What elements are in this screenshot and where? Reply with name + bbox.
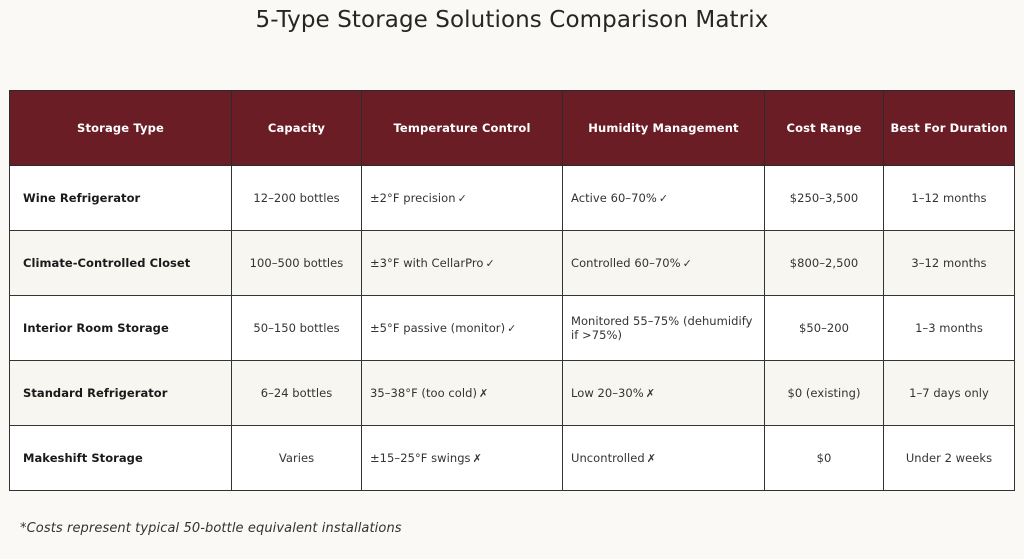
column-header-humidity-management: Humidity Management: [563, 91, 765, 166]
temperature-text: ±15–25°F swings: [370, 451, 471, 465]
column-header-cost-range: Cost Range: [765, 91, 884, 166]
column-header-temperature-control: Temperature Control: [362, 91, 563, 166]
temperature-text: ±2°F precision: [370, 191, 456, 205]
humidity-text: Active 60–70%: [571, 191, 657, 205]
humidity-text: Uncontrolled: [571, 451, 645, 465]
table-row: Climate-Controlled Closet 100–500 bottle…: [10, 231, 1015, 296]
table-row: Makeshift Storage Varies ±15–25°F swings…: [10, 426, 1015, 491]
cross-icon: ✗: [473, 452, 482, 465]
cell-humidity-management: Controlled 60–70%✓: [563, 231, 765, 296]
temperature-text: 35–38°F (too cold): [370, 386, 477, 400]
cell-best-for-duration: 1–7 days only: [884, 361, 1015, 426]
table-body: Wine Refrigerator 12–200 bottles ±2°F pr…: [10, 166, 1015, 491]
table-row: Interior Room Storage 50–150 bottles ±5°…: [10, 296, 1015, 361]
cell-capacity: 50–150 bottles: [232, 296, 362, 361]
table-header: Storage Type Capacity Temperature Contro…: [10, 91, 1015, 166]
cell-storage-type: Makeshift Storage: [10, 426, 232, 491]
temperature-text: ±5°F passive (monitor): [370, 321, 505, 335]
cell-temperature-control: 35–38°F (too cold)✗: [362, 361, 563, 426]
check-icon: ✓: [659, 192, 668, 205]
cell-humidity-management: Uncontrolled✗: [563, 426, 765, 491]
cell-capacity: 100–500 bottles: [232, 231, 362, 296]
cell-best-for-duration: Under 2 weeks: [884, 426, 1015, 491]
cell-storage-type: Standard Refrigerator: [10, 361, 232, 426]
cell-cost-range: $0 (existing): [765, 361, 884, 426]
cell-cost-range: $250–3,500: [765, 166, 884, 231]
comparison-matrix-page: 5-Type Storage Solutions Comparison Matr…: [0, 0, 1024, 559]
check-icon: ✓: [507, 322, 516, 335]
cell-temperature-control: ±3°F with CellarPro✓: [362, 231, 563, 296]
cell-best-for-duration: 3–12 months: [884, 231, 1015, 296]
cell-storage-type: Wine Refrigerator: [10, 166, 232, 231]
check-icon: ✓: [683, 257, 692, 270]
cell-cost-range: $0: [765, 426, 884, 491]
cross-icon: ✗: [479, 387, 488, 400]
cell-best-for-duration: 1–12 months: [884, 166, 1015, 231]
column-header-best-for-duration: Best For Duration: [884, 91, 1015, 166]
cross-icon: ✗: [646, 387, 655, 400]
cross-icon: ✗: [647, 452, 656, 465]
page-title: 5-Type Storage Solutions Comparison Matr…: [0, 0, 1024, 33]
temperature-text: ±3°F with CellarPro: [370, 256, 484, 270]
cell-temperature-control: ±2°F precision✓: [362, 166, 563, 231]
column-header-storage-type: Storage Type: [10, 91, 232, 166]
cell-humidity-management: Monitored 55–75% (dehumidify if >75%): [563, 296, 765, 361]
cell-cost-range: $800–2,500: [765, 231, 884, 296]
column-header-capacity: Capacity: [232, 91, 362, 166]
cell-temperature-control: ±5°F passive (monitor)✓: [362, 296, 563, 361]
table-header-row: Storage Type Capacity Temperature Contro…: [10, 91, 1015, 166]
humidity-text: Low 20–30%: [571, 386, 644, 400]
cell-capacity: 12–200 bottles: [232, 166, 362, 231]
comparison-table-container: Storage Type Capacity Temperature Contro…: [9, 90, 1014, 491]
footnote: *Costs represent typical 50-bottle equiv…: [20, 521, 402, 536]
cell-storage-type: Interior Room Storage: [10, 296, 232, 361]
check-icon: ✓: [486, 257, 495, 270]
check-icon: ✓: [458, 192, 467, 205]
cell-capacity: 6–24 bottles: [232, 361, 362, 426]
table-row: Wine Refrigerator 12–200 bottles ±2°F pr…: [10, 166, 1015, 231]
cell-temperature-control: ±15–25°F swings✗: [362, 426, 563, 491]
storage-comparison-table: Storage Type Capacity Temperature Contro…: [9, 90, 1015, 491]
cell-storage-type: Climate-Controlled Closet: [10, 231, 232, 296]
cell-cost-range: $50–200: [765, 296, 884, 361]
cell-humidity-management: Low 20–30%✗: [563, 361, 765, 426]
cell-humidity-management: Active 60–70%✓: [563, 166, 765, 231]
cell-capacity: Varies: [232, 426, 362, 491]
humidity-text: Controlled 60–70%: [571, 256, 681, 270]
table-row: Standard Refrigerator 6–24 bottles 35–38…: [10, 361, 1015, 426]
cell-best-for-duration: 1–3 months: [884, 296, 1015, 361]
humidity-text: Monitored 55–75% (dehumidify if >75%): [571, 314, 752, 342]
